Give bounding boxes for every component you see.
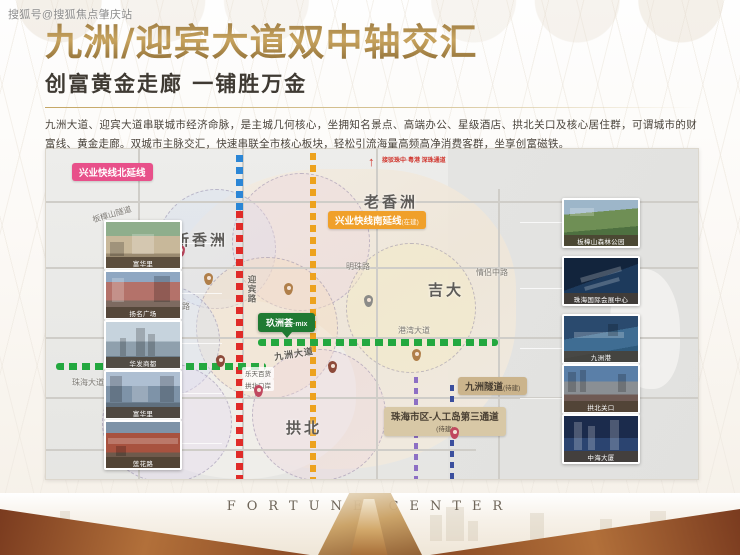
route-label-sub: (在建) bbox=[402, 219, 419, 226]
map-annotation: 港湾大道 bbox=[398, 325, 430, 336]
thumbnail-caption: 扬名广场 bbox=[106, 307, 180, 318]
body-paragraph: 九洲大道、迎宾大道串联城市经济命脉，是主城几何核心，坐拥知名景点、高端办公、星级… bbox=[45, 116, 697, 154]
thumbnail-right-2[interactable]: 珠海国际会展中心 bbox=[562, 256, 640, 306]
thumb-connector bbox=[176, 343, 222, 344]
thumbnail-left-2[interactable]: 扬名广场 bbox=[104, 270, 182, 320]
district-label-laoxiangzhou: 老香洲 bbox=[364, 191, 418, 212]
map-annotation: 情侣中路 bbox=[476, 267, 508, 278]
watermark-text: 搜狐号@搜狐焦点肇庆站 bbox=[8, 6, 132, 22]
thumb-connector bbox=[176, 243, 222, 244]
watermark: 搜狐号@搜狐焦点肇庆站 bbox=[8, 6, 132, 22]
thumbnail-caption: 板樟山森林公园 bbox=[564, 235, 638, 246]
route-label-text: 珠海市区-人工岛第三通道 bbox=[391, 412, 499, 423]
thumbnail-left-3[interactable]: 华发商都 bbox=[104, 320, 182, 370]
page-title: 九洲/迎宾大道双中轴交汇 bbox=[45, 20, 705, 64]
thumbnail-caption: 华发商都 bbox=[106, 357, 180, 368]
thumbnail-caption: 富华里 bbox=[106, 407, 180, 418]
header: 九洲/迎宾大道双中轴交汇 创富黄金走廊 一铺胜万金 九洲大道、迎宾大道串联城市经… bbox=[45, 20, 705, 154]
project-marker-suffix: ·mix bbox=[293, 321, 307, 328]
road-label-yingbin: 迎宾路 bbox=[246, 275, 258, 304]
thumbnail-caption: 富华里 bbox=[106, 257, 180, 268]
divider-rule bbox=[45, 107, 697, 108]
map-annotation: 珠海大道 bbox=[72, 377, 104, 388]
footer: FORTUNE CENTER bbox=[0, 493, 740, 555]
transit-line-red bbox=[236, 211, 243, 479]
map-annotation: 明珠路 bbox=[346, 261, 370, 272]
district-label-gongbei: 拱北 bbox=[286, 417, 322, 438]
thumbnail-caption: 珠海国际会展中心 bbox=[564, 293, 638, 304]
thumbnail-right-5[interactable]: 中海大厦 bbox=[562, 414, 640, 464]
project-marker[interactable]: 玖洲荟·mix bbox=[258, 313, 315, 332]
thumbnail-left-1[interactable]: 富华里 bbox=[104, 220, 182, 270]
transit-line-green-east bbox=[258, 339, 498, 346]
route-label-text: 兴业快线南延线 bbox=[335, 216, 402, 227]
thumbnail-caption: 拱北关口 bbox=[564, 401, 638, 412]
thumb-connector bbox=[520, 288, 562, 289]
poster-page: 搜狐号@搜狐焦点肇庆站 九洲/迎宾大道双中轴交汇 创富黄金走廊 一铺胜万金 九洲… bbox=[0, 0, 740, 555]
route-label-jiuzhou-tunnel: 九洲隧道(待建) bbox=[458, 377, 527, 395]
thumbnail-caption: 中海大厦 bbox=[564, 451, 638, 462]
page-subtitle: 创富黄金走廊 一铺胜万金 bbox=[45, 68, 705, 98]
thumb-connector bbox=[520, 398, 562, 399]
route-label-third-channel: 珠海市区-人工岛第三通道(待建) bbox=[384, 407, 506, 436]
thumbnail-right-1[interactable]: 板樟山森林公园 bbox=[562, 198, 640, 248]
thumbnail-left-5[interactable]: 莲花路 bbox=[104, 420, 182, 470]
thumb-connector bbox=[176, 443, 222, 444]
route-label-xingye-south: 兴业快线南延线(在建) bbox=[328, 211, 426, 229]
project-marker-label: 玖洲荟 bbox=[266, 318, 293, 328]
thumb-connector bbox=[520, 348, 562, 349]
thumbnail-caption: 莲花路 bbox=[106, 457, 180, 468]
poi-chip: 乐天百货 bbox=[242, 367, 274, 379]
north-arrow-icon: ↑ bbox=[368, 155, 375, 168]
transit-line-blue bbox=[236, 155, 243, 213]
thumb-connector bbox=[520, 222, 562, 223]
route-label-xingye-north: 兴业快线北延线 bbox=[72, 163, 153, 181]
thumbnail-left-4[interactable]: 富华里 bbox=[104, 370, 182, 420]
thumbnail-right-4[interactable]: 拱北关口 bbox=[562, 364, 640, 414]
thumbnail-caption: 九洲港 bbox=[564, 351, 638, 362]
route-label-text: 兴业快线北延线 bbox=[79, 168, 146, 179]
route-label-sub: (待建) bbox=[503, 385, 520, 392]
district-label-jida: 吉大 bbox=[428, 279, 464, 300]
thumb-connector bbox=[176, 293, 222, 294]
thumb-connector bbox=[176, 393, 222, 394]
connection-note: 接驳珠中·粤港 深珠通道 bbox=[382, 157, 446, 165]
route-label-text: 九洲隧道 bbox=[465, 382, 503, 393]
thumbnail-right-3[interactable]: 九洲港 bbox=[562, 314, 640, 364]
